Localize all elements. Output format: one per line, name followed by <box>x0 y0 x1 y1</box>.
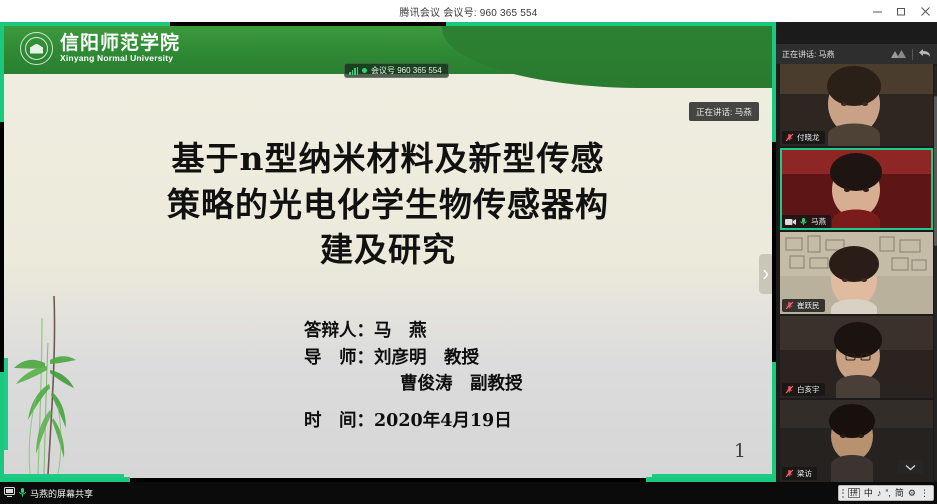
advisor-line-2: 曹俊涛 副教授 <box>304 371 684 398</box>
accent-line-bottom-right <box>652 474 772 478</box>
participant-name: 白亥宇 <box>797 384 820 395</box>
participant-name: 付晓龙 <box>797 132 820 143</box>
university-name-en: Xinyang Normal University <box>60 53 180 63</box>
slide-body: 基于n型纳米材料及新型传感 策略的光电化学生物传感器构 建及研究 答辩人：马 燕… <box>4 74 772 478</box>
ime-language-button[interactable]: 中 <box>864 489 873 498</box>
participant-tile[interactable]: 崔跃民 <box>780 232 933 314</box>
ime-pinyin-button[interactable]: 拼 <box>848 488 860 498</box>
mic-muted-icon <box>785 301 794 310</box>
accent-line-vertical <box>4 358 8 450</box>
mic-on-icon <box>799 217 808 226</box>
minimize-icon[interactable] <box>872 6 883 17</box>
ime-drag-handle[interactable] <box>842 489 844 498</box>
mic-muted-icon <box>785 469 794 478</box>
participant-name-badge: 马燕 <box>782 215 831 228</box>
reply-arrow-icon[interactable] <box>919 45 931 63</box>
ime-settings-icon[interactable]: ⚙ <box>908 489 916 498</box>
header-divider <box>912 49 913 60</box>
speaking-tooltip: 正在讲话: 马燕 <box>689 102 759 121</box>
participant-name-badge: 白亥宇 <box>782 383 825 396</box>
mic-icon <box>18 487 27 500</box>
window-controls <box>872 0 931 22</box>
window-title: 腾讯会议 会议号: 960 365 554 <box>399 4 537 19</box>
bamboo-decoration-icon <box>12 288 102 478</box>
taskbar-share-item[interactable]: 马燕的屏幕共享 <box>0 482 97 504</box>
mic-muted-icon <box>785 385 794 394</box>
meeting-id-pill[interactable]: 会议号 960 365 554 <box>344 63 449 78</box>
slide-metadata: 答辩人：马 燕 导 师：刘彦明 教授 曹俊涛 副教授 时 间：2020年4月19… <box>304 318 684 434</box>
shared-screen-region: 信阳师范学院 Xinyang Normal University 基于n型纳米材… <box>0 22 776 482</box>
restore-icon[interactable] <box>896 6 907 17</box>
slide-title: 基于n型纳米材料及新型传感 策略的光电化学生物传感器构 建及研究 <box>82 136 694 273</box>
participant-name-badge: 付晓龙 <box>782 131 825 144</box>
participants-panel: 正在讲话: 马燕 <box>776 22 937 482</box>
speaking-tooltip-label: 正在讲话: 马燕 <box>696 106 752 118</box>
recording-indicator-icon <box>362 68 367 73</box>
participant-tile[interactable]: 马燕 <box>780 148 933 230</box>
participant-tiles: 付晓龙 <box>776 64 937 482</box>
university-name-cn: 信阳师范学院 <box>60 34 180 54</box>
date-line: 时 间：2020年4月19日 <box>304 408 684 435</box>
ime-punctuation-button[interactable]: ”, <box>885 489 891 498</box>
participant-name: 梁访 <box>797 468 812 479</box>
advisor-line-1: 导 师：刘彦明 教授 <box>304 345 684 372</box>
desktop-area: 信阳师范学院 Xinyang Normal University 基于n型纳米材… <box>0 22 937 482</box>
camera-on-icon <box>785 218 796 226</box>
slide-title-line-1: 基于n型纳米材料及新型传感 <box>82 136 694 182</box>
participant-name: 崔跃民 <box>797 300 820 311</box>
ime-tone-button[interactable]: ♪ <box>877 489 882 498</box>
university-logo: 信阳师范学院 Xinyang Normal University <box>20 32 180 65</box>
participant-tile[interactable]: 付晓龙 <box>780 64 933 146</box>
monitor-icon <box>4 487 15 499</box>
participant-name: 马燕 <box>811 216 826 227</box>
slide-page-number: 1 <box>734 440 746 462</box>
accent-line-bottom-left <box>4 474 124 478</box>
chevron-down-icon[interactable] <box>897 460 923 474</box>
ime-more-icon[interactable]: ⋮ <box>920 489 929 498</box>
meeting-id-label: 会议号 960 365 554 <box>371 65 442 76</box>
taskbar-share-label: 马燕的屏幕共享 <box>30 487 93 500</box>
university-crest-icon <box>20 32 53 65</box>
presentation-slide[interactable]: 信阳师范学院 Xinyang Normal University 基于n型纳米材… <box>4 26 772 478</box>
panel-collapse-handle[interactable] <box>759 254 772 294</box>
signal-strength-icon <box>349 67 358 75</box>
close-icon[interactable] <box>920 6 931 17</box>
window-titlebar: 腾讯会议 会议号: 960 365 554 <box>0 0 937 22</box>
participant-name-badge: 崔跃民 <box>782 299 825 312</box>
participant-name-badge: 梁访 <box>782 467 817 480</box>
participant-tile[interactable]: 梁访 <box>780 400 933 482</box>
slide-title-line-3: 建及研究 <box>82 227 694 273</box>
mic-muted-icon <box>785 133 794 142</box>
presenter-line: 答辩人：马 燕 <box>304 318 684 345</box>
ime-toolbar[interactable]: 拼 中 ♪ ”, 简 ⚙ ⋮ <box>838 485 934 501</box>
slide-title-line-2: 策略的光电化学生物传感器构 <box>82 182 694 228</box>
participants-panel-header: 正在讲话: 马燕 <box>776 44 937 64</box>
taskbar: 马燕的屏幕共享 拼 中 ♪ ”, 简 ⚙ ⋮ <box>0 482 937 504</box>
ime-simplified-button[interactable]: 简 <box>895 489 904 498</box>
active-speaker-label: 正在讲话: 马燕 <box>782 49 891 60</box>
participant-tile[interactable]: 白亥宇 <box>780 316 933 398</box>
mountains-icon[interactable] <box>891 45 906 63</box>
